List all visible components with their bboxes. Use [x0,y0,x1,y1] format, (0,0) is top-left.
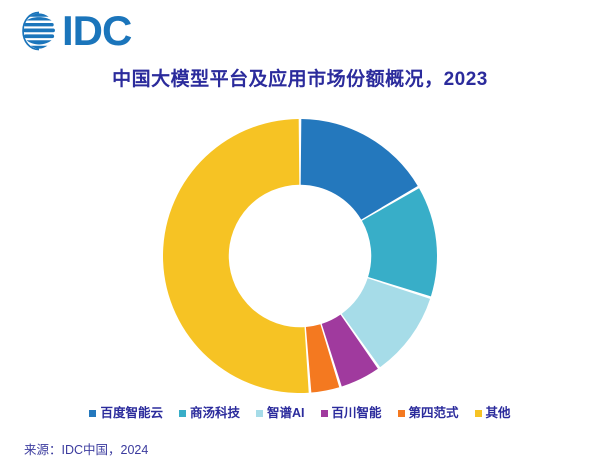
legend-swatch-icon [89,410,96,417]
legend-swatch-icon [179,410,186,417]
legend-swatch-icon [398,410,405,417]
legend-item[interactable]: 其他 [475,406,511,420]
legend-item[interactable]: 智谱AI [256,406,305,420]
idc-logo: IDC [18,8,131,54]
page-bottom-edge [0,469,600,473]
legend-label: 百川智能 [332,406,382,420]
chart-title: 中国大模型平台及应用市场份额概况，2023 [0,68,600,92]
legend-label: 商汤科技 [190,406,240,420]
legend-item[interactable]: 第四范式 [398,406,459,420]
donut-slice[interactable]: 其他 51.2% [163,119,309,393]
donut-chart: 百度智能云 16.6%商汤科技 13.3%智谱AI 10.3%百川智能 5%第四… [0,112,600,400]
chart-page: IDC 中国大模型平台及应用市场份额概况，2023 百度智能云 16.6%商汤科… [0,0,600,473]
source-note: 来源：IDC中国，2024 [24,443,148,458]
legend-label: 百度智能云 [100,406,163,420]
legend-label: 第四范式 [409,406,459,420]
legend-item[interactable]: 百度智能云 [89,406,163,420]
legend-label: 智谱AI [267,406,305,420]
donut-svg: 百度智能云 16.6%商汤科技 13.3%智谱AI 10.3%百川智能 5%第四… [155,112,445,400]
idc-wordmark: IDC [62,10,131,52]
idc-globe-icon [18,10,60,52]
legend-item[interactable]: 商汤科技 [179,406,240,420]
legend-swatch-icon [475,410,482,417]
legend-label: 其他 [486,406,511,420]
legend-swatch-icon [256,410,263,417]
donut-slices: 百度智能云 16.6%商汤科技 13.3%智谱AI 10.3%百川智能 5%第四… [163,119,437,393]
legend-swatch-icon [321,410,328,417]
legend-item[interactable]: 百川智能 [321,406,382,420]
chart-legend: 百度智能云商汤科技智谱AI百川智能第四范式其他 [0,406,600,420]
